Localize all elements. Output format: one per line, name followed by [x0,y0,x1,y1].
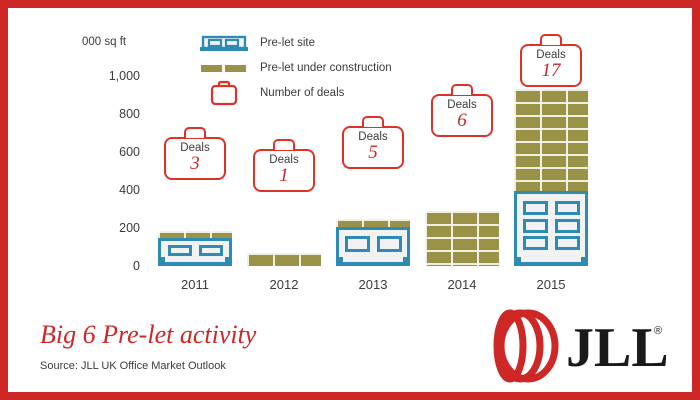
jll-logo-mark [497,313,555,379]
deals-badge-2012: Deals 1 [247,139,321,192]
y-tick-200: 200 [119,221,140,235]
segment-under-construction-2012 [247,253,321,266]
deals-badge-2015: Deals 17 [514,34,588,87]
y-tick-600: 600 [119,145,140,159]
bar-2011 [158,231,232,266]
briefcase-handle-icon [451,84,473,95]
y-axis-unit-label: 000 sq ft [82,36,126,48]
y-tick-400: 400 [119,183,140,197]
window [523,219,548,233]
window-row [520,219,582,233]
segment-pre-let-site-2011 [158,238,232,257]
deals-badge-2011: Deals 3 [158,127,232,180]
bar-2013 [336,219,410,266]
bar-stack-2011 [158,231,232,266]
deals-badge-2014: Deals 6 [425,84,499,137]
briefcase-body-icon: Deals 17 [520,44,582,87]
window-row [520,201,582,215]
briefcase-handle-icon [273,139,295,150]
briefcase-handle-icon [540,34,562,45]
svg-text:®: ® [654,325,662,337]
briefcase-body-icon: Deals 1 [253,149,315,192]
bar-stack-2014 [425,211,499,266]
bar-2015 [514,89,588,266]
briefcase-handle-icon [362,116,384,127]
deals-count-2012: 1 [255,166,313,186]
window-row [164,245,226,256]
bar-stack-2015 [514,89,588,266]
deals-count-2013: 5 [344,143,402,163]
bar-2014 [425,211,499,266]
window-row [342,236,404,252]
window [168,245,192,256]
y-tick-0: 0 [133,259,140,273]
window [523,201,548,215]
building-plinth-2015 [514,257,588,266]
deals-count-2014: 6 [433,111,491,131]
window [523,236,548,250]
briefcase-body-icon: Deals 3 [164,137,226,180]
x-label-2013: 2013 [336,277,410,292]
segment-under-construction-2014 [425,211,499,266]
building-plinth-2013 [336,257,410,266]
building-plinth-2011 [158,257,232,266]
window [555,201,580,215]
y-tick-1000: 1,000 [109,69,140,83]
deals-count-2015: 17 [522,61,580,81]
source-note: Source: JLL UK Office Market Outlook [40,360,226,372]
bar-stack-2012 [247,253,321,266]
deals-count-2011: 3 [166,154,224,174]
chart-canvas: 000 sq ft 1,000 800 600 400 200 0 Pre-le [8,8,692,392]
y-tick-800: 800 [119,107,140,121]
window [555,219,580,233]
window [345,236,370,252]
bar-2012 [247,253,321,266]
infographic-frame: 000 sq ft 1,000 800 600 400 200 0 Pre-le [0,0,700,400]
briefcase-body-icon: Deals 6 [431,94,493,137]
segment-under-construction-2015 [514,89,588,191]
window-row [520,236,582,250]
segment-under-construction-2011 [158,231,232,238]
jll-logo: JLL ® [466,308,666,384]
page-title: Big 6 Pre-let activity [40,320,256,350]
x-label-2014: 2014 [425,277,499,292]
x-label-2011: 2011 [158,277,232,292]
window [555,236,580,250]
deals-badge-2013: Deals 5 [336,116,410,169]
segment-pre-let-site-2015 [514,191,588,257]
svg-text:JLL: JLL [566,317,666,379]
x-label-2012: 2012 [247,277,321,292]
briefcase-body-icon: Deals 5 [342,126,404,169]
x-label-2015: 2015 [514,277,588,292]
window [199,245,223,256]
briefcase-handle-icon [184,127,206,138]
window [377,236,402,252]
bar-stack-2013 [336,219,410,266]
segment-under-construction-2013 [336,219,410,227]
segment-pre-let-site-2013 [336,227,410,257]
